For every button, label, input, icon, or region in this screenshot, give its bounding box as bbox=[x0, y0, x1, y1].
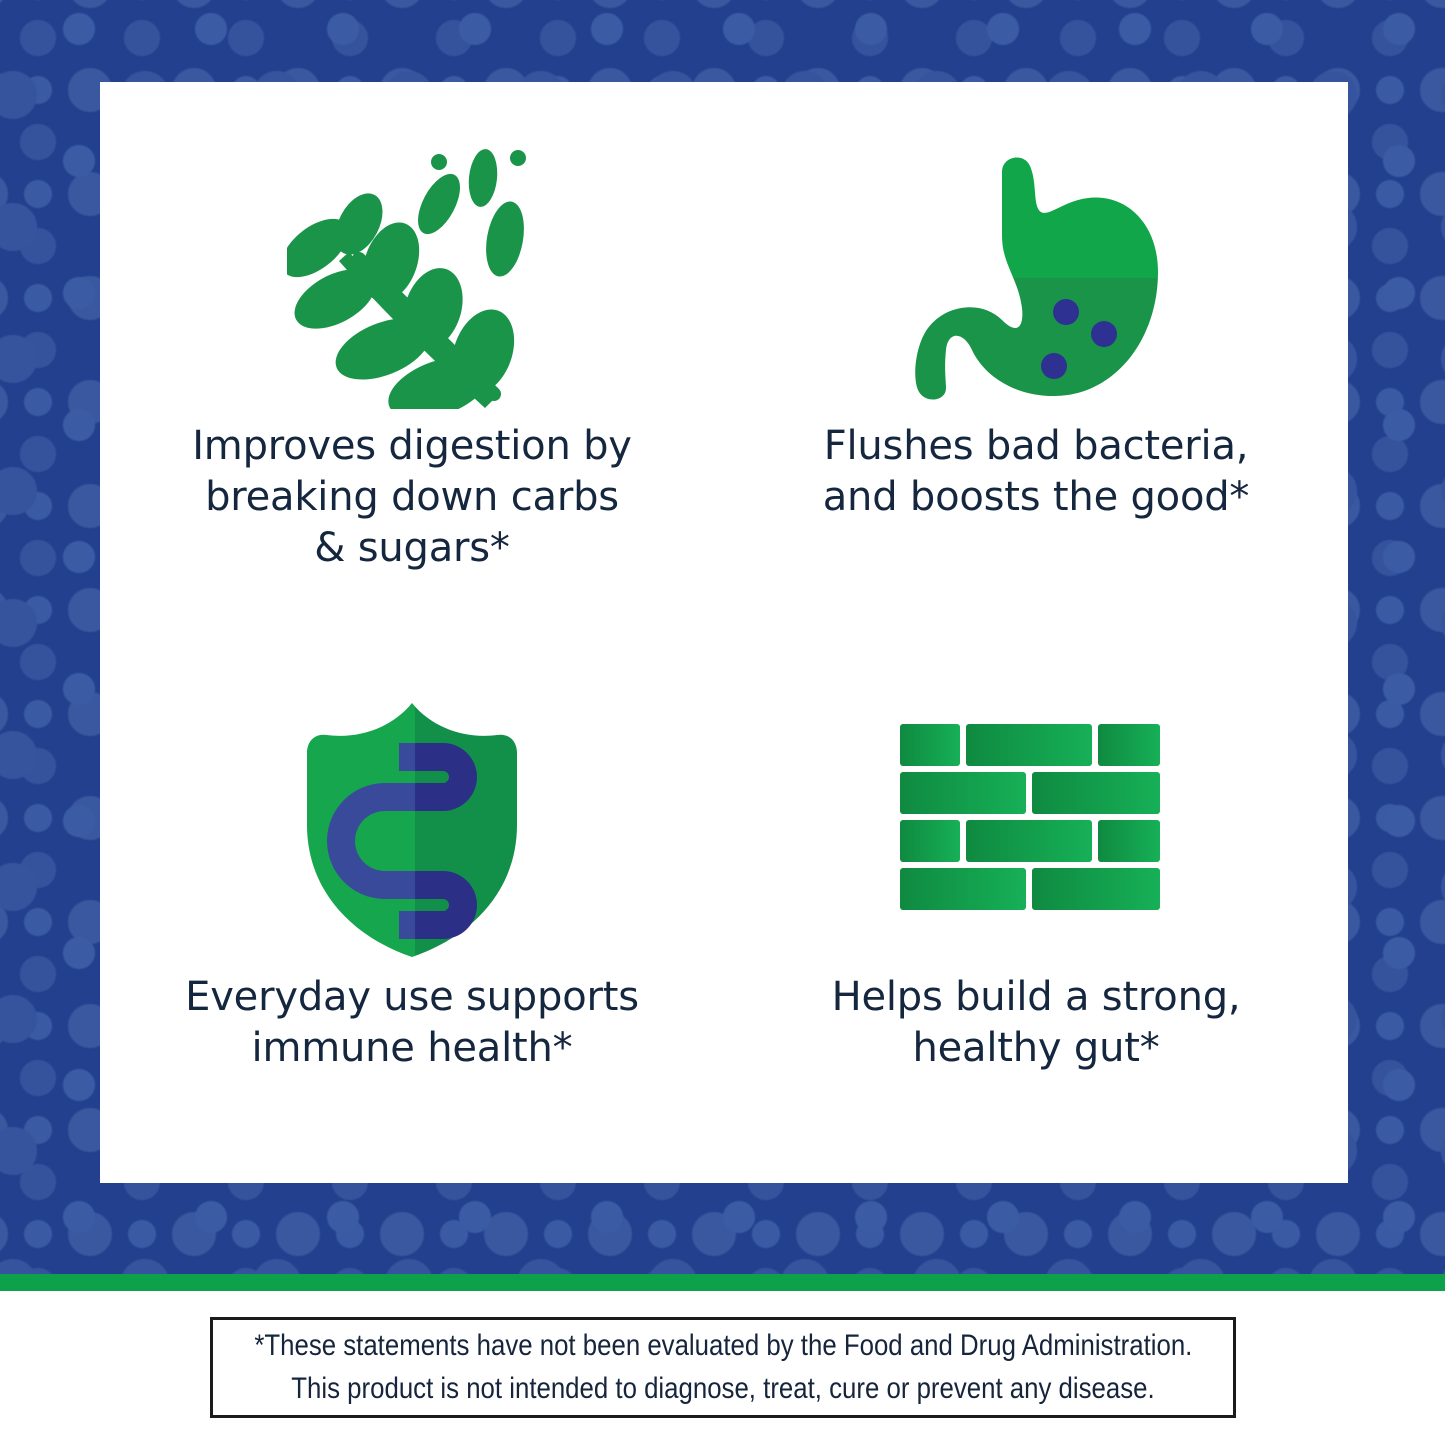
benefit-item-bacteria: Flushes bad bacteria, and boosts the goo… bbox=[724, 82, 1348, 633]
benefits-card: Improves digestion by breaking down carb… bbox=[100, 82, 1348, 1183]
benefits-grid: Improves digestion by breaking down carb… bbox=[100, 82, 1348, 1183]
disclaimer-box: *These statements have not been evaluate… bbox=[210, 1317, 1236, 1418]
bacteria-dot bbox=[1091, 321, 1117, 347]
shield-intestine-icon bbox=[287, 695, 537, 960]
shield-intestine-icon-container bbox=[100, 695, 724, 960]
benefit-caption: Helps build a strong, healthy gut* bbox=[832, 972, 1241, 1074]
bacteria-dot bbox=[1041, 353, 1067, 379]
stomach-icon bbox=[906, 144, 1166, 409]
benefit-caption: Flushes bad bacteria, and boosts the goo… bbox=[823, 421, 1249, 523]
benefit-caption: Everyday use supports immune health* bbox=[185, 972, 639, 1074]
leaf-branch-icon bbox=[287, 144, 537, 409]
stomach-icon-container bbox=[724, 144, 1348, 409]
benefit-item-digestion: Improves digestion by breaking down carb… bbox=[100, 82, 724, 633]
marketing-infographic: Improves digestion by breaking down carb… bbox=[0, 0, 1445, 1445]
leaf-branch-icon-container bbox=[100, 144, 724, 409]
disclaimer-line-2: This product is not intended to diagnose… bbox=[291, 1368, 1154, 1411]
green-divider-band bbox=[0, 1274, 1445, 1291]
benefit-item-gut: Helps build a strong, healthy gut* bbox=[724, 633, 1348, 1184]
benefit-caption: Improves digestion by breaking down carb… bbox=[192, 421, 632, 575]
brick-wall-icon-container bbox=[724, 695, 1348, 960]
bacteria-dot bbox=[1053, 299, 1079, 325]
brick-wall-icon bbox=[896, 720, 1176, 935]
disclaimer-line-1: *These statements have not been evaluate… bbox=[254, 1325, 1192, 1368]
benefit-item-immune: Everyday use supports immune health* bbox=[100, 633, 724, 1184]
